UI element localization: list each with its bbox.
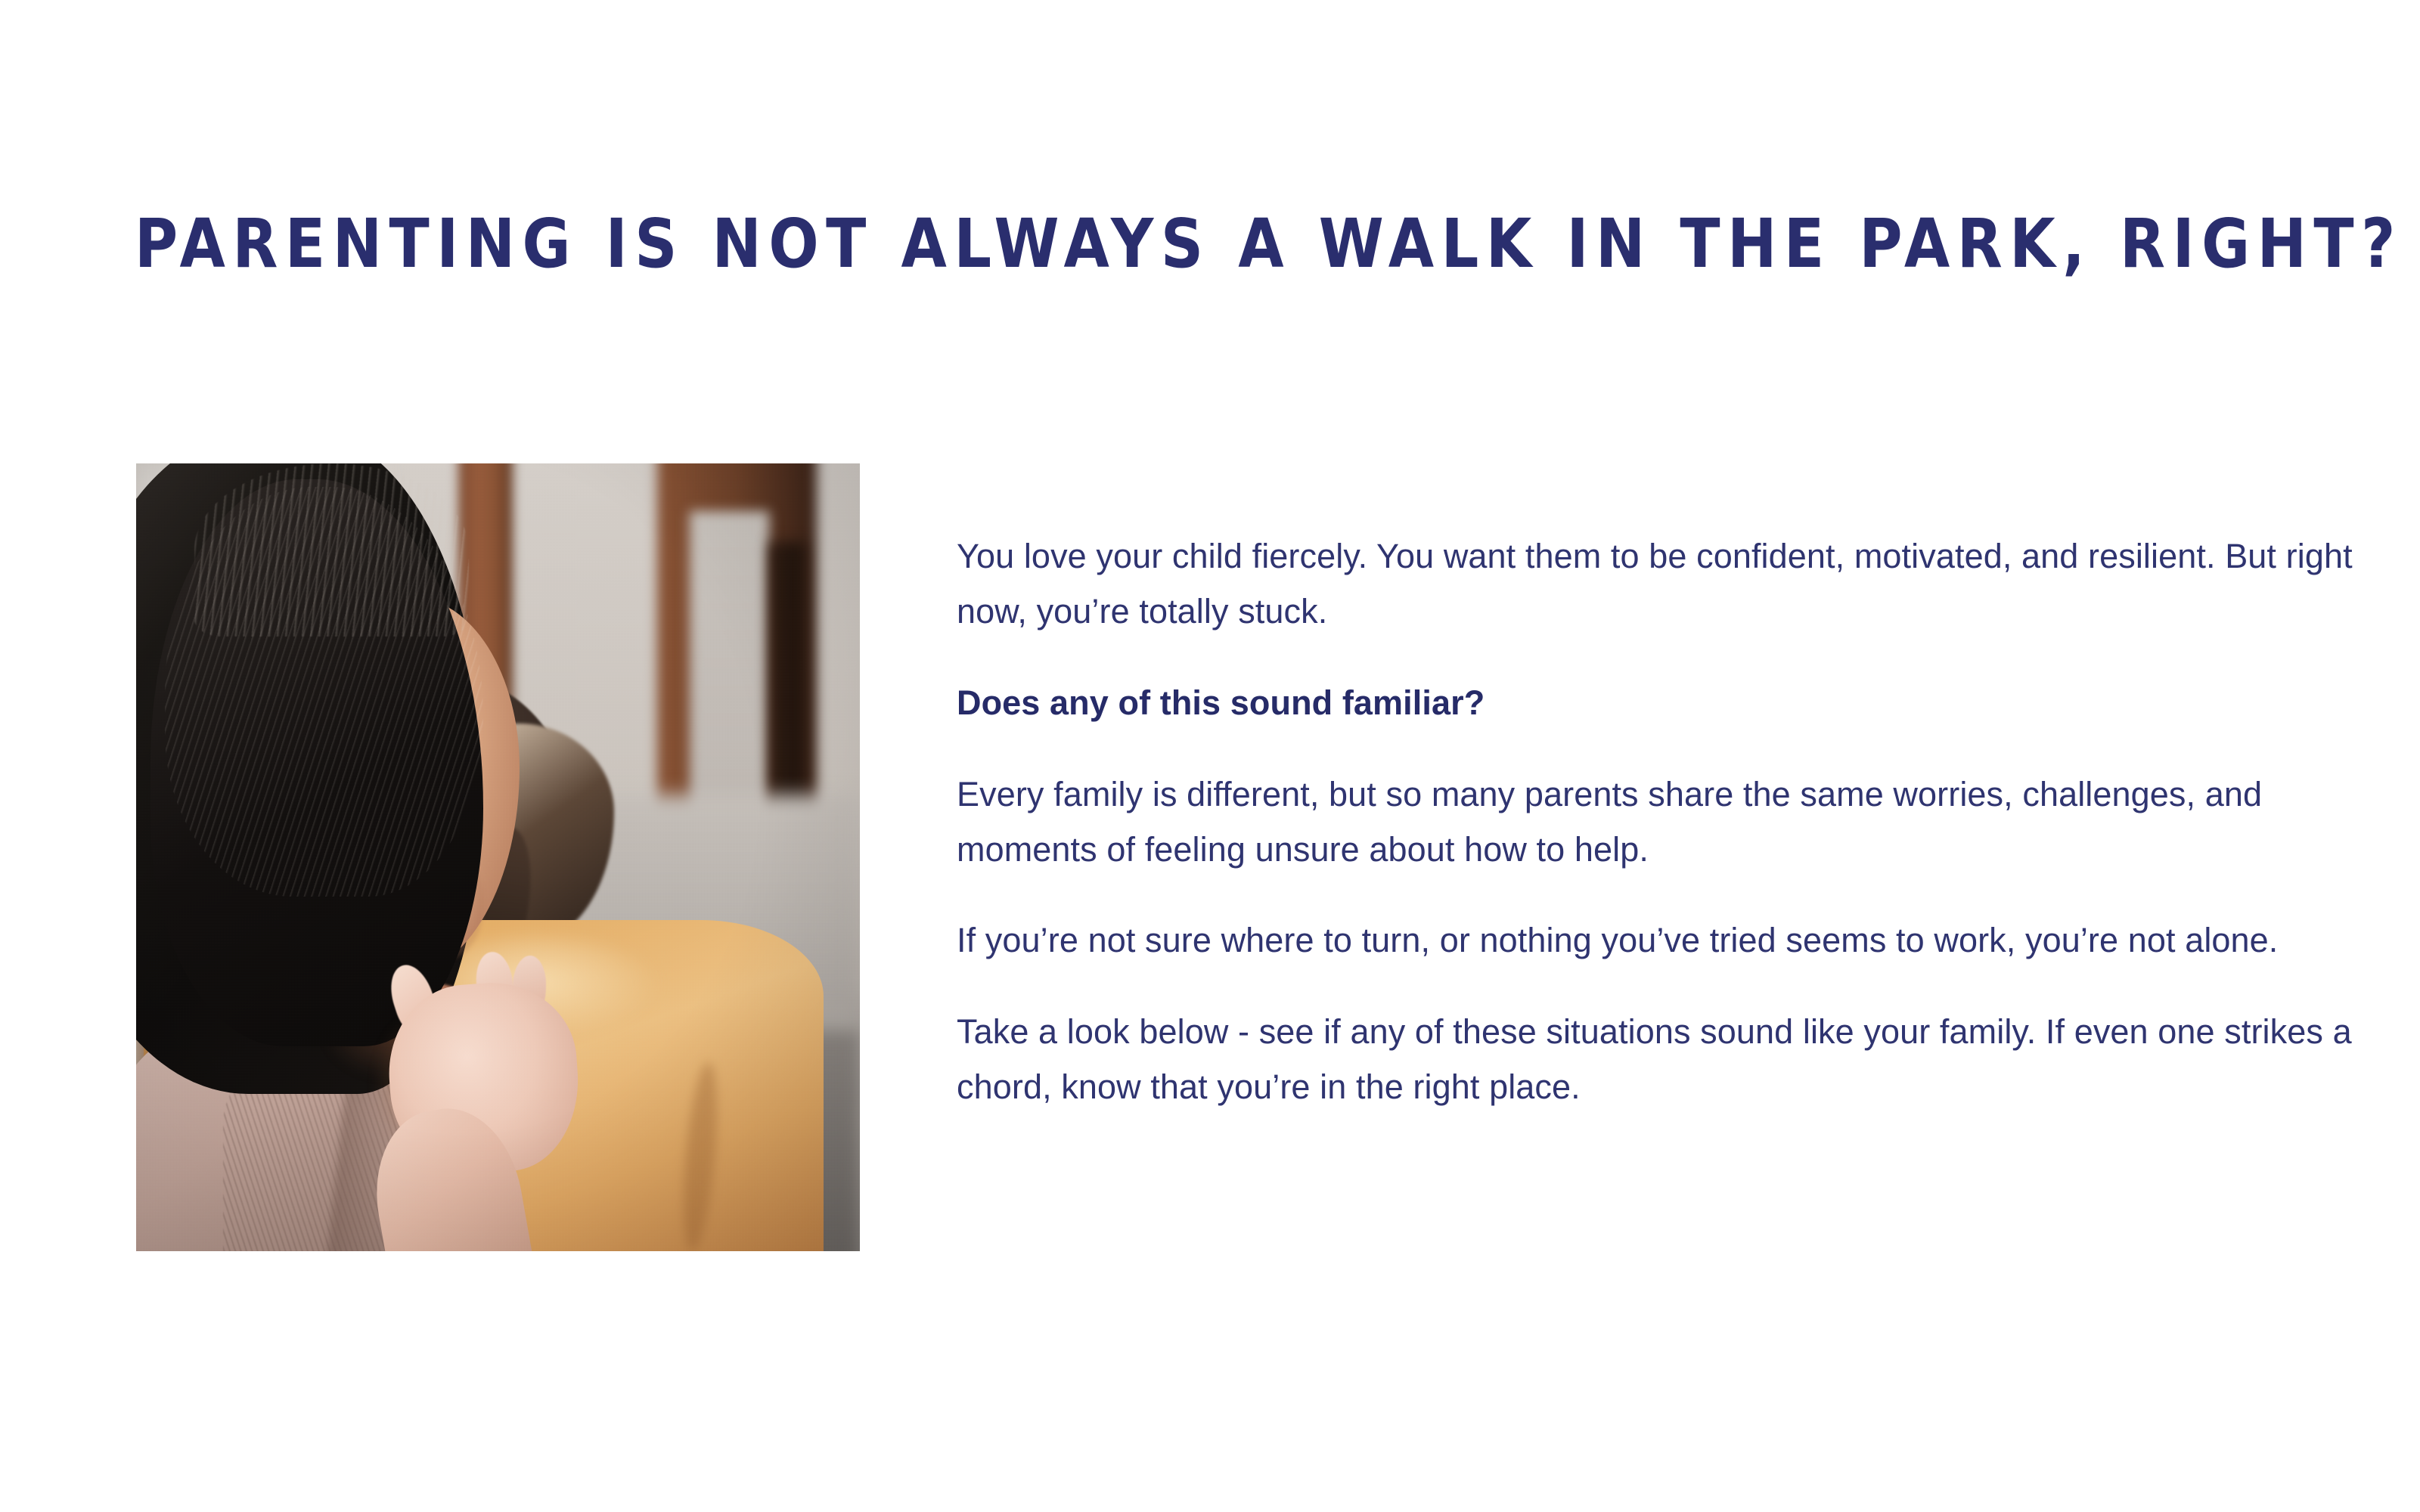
body-text-column: You love your child fiercely. You want t…: [957, 529, 2371, 1115]
page-title: PARENTING IS NOT ALWAYS A WALK IN THE PA…: [135, 210, 2252, 280]
paragraph-shared-worries: Every family is different, but so many p…: [957, 767, 2371, 878]
woman-hair-flyaways: [194, 463, 470, 637]
paragraph-not-alone: If you’re not sure where to turn, or not…: [957, 913, 2371, 968]
paragraph-call-to-action: Take a look below - see if any of these …: [957, 1005, 2371, 1115]
paragraph-question: Does any of this sound familiar?: [957, 676, 2371, 731]
photo-scene: [136, 463, 860, 1251]
hero-photo: [136, 463, 860, 1251]
paragraph-intro: You love your child fiercely. You want t…: [957, 529, 2371, 640]
slide-canvas: PARENTING IS NOT ALWAYS A WALK IN THE PA…: [0, 0, 2420, 1512]
